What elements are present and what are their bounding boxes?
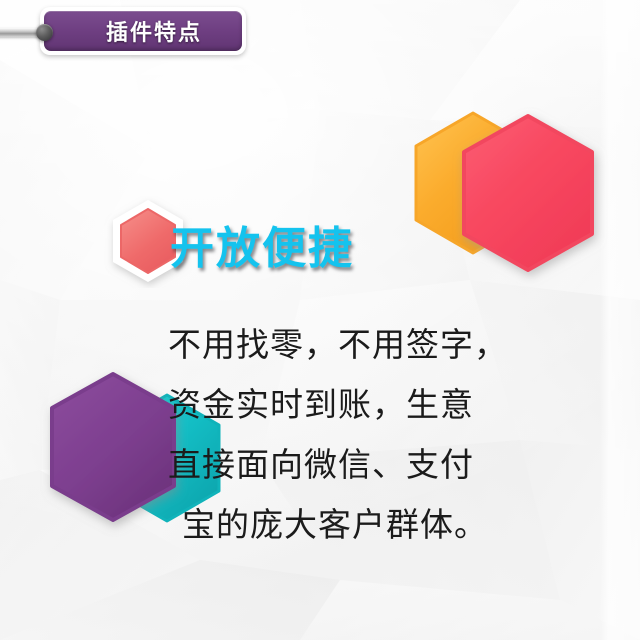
body-line: 不用找零，不用签字， (168, 316, 568, 376)
headline-row: 开放便捷 (104, 196, 524, 290)
hexagon-purple (44, 370, 182, 524)
body-paragraph: 不用找零，不用签字， 资金实时到账，生意 直接面向微信、支付 宝的庞大客户群体。 (168, 316, 568, 556)
screw-pin-icon (36, 24, 53, 41)
section-badge[interactable]: 插件特点 (40, 7, 246, 55)
slide-canvas: 插件特点 开放便捷 (0, 0, 640, 640)
body-line: 资金实时到账，生意 (168, 376, 568, 436)
body-line: 宝的庞大客户群体。 (168, 496, 568, 556)
body-line: 直接面向微信、支付 (168, 436, 568, 496)
section-badge-label: 插件特点 (84, 15, 202, 47)
headline-title: 开放便捷 (170, 212, 354, 276)
section-badge-inner: 插件特点 (44, 11, 242, 51)
